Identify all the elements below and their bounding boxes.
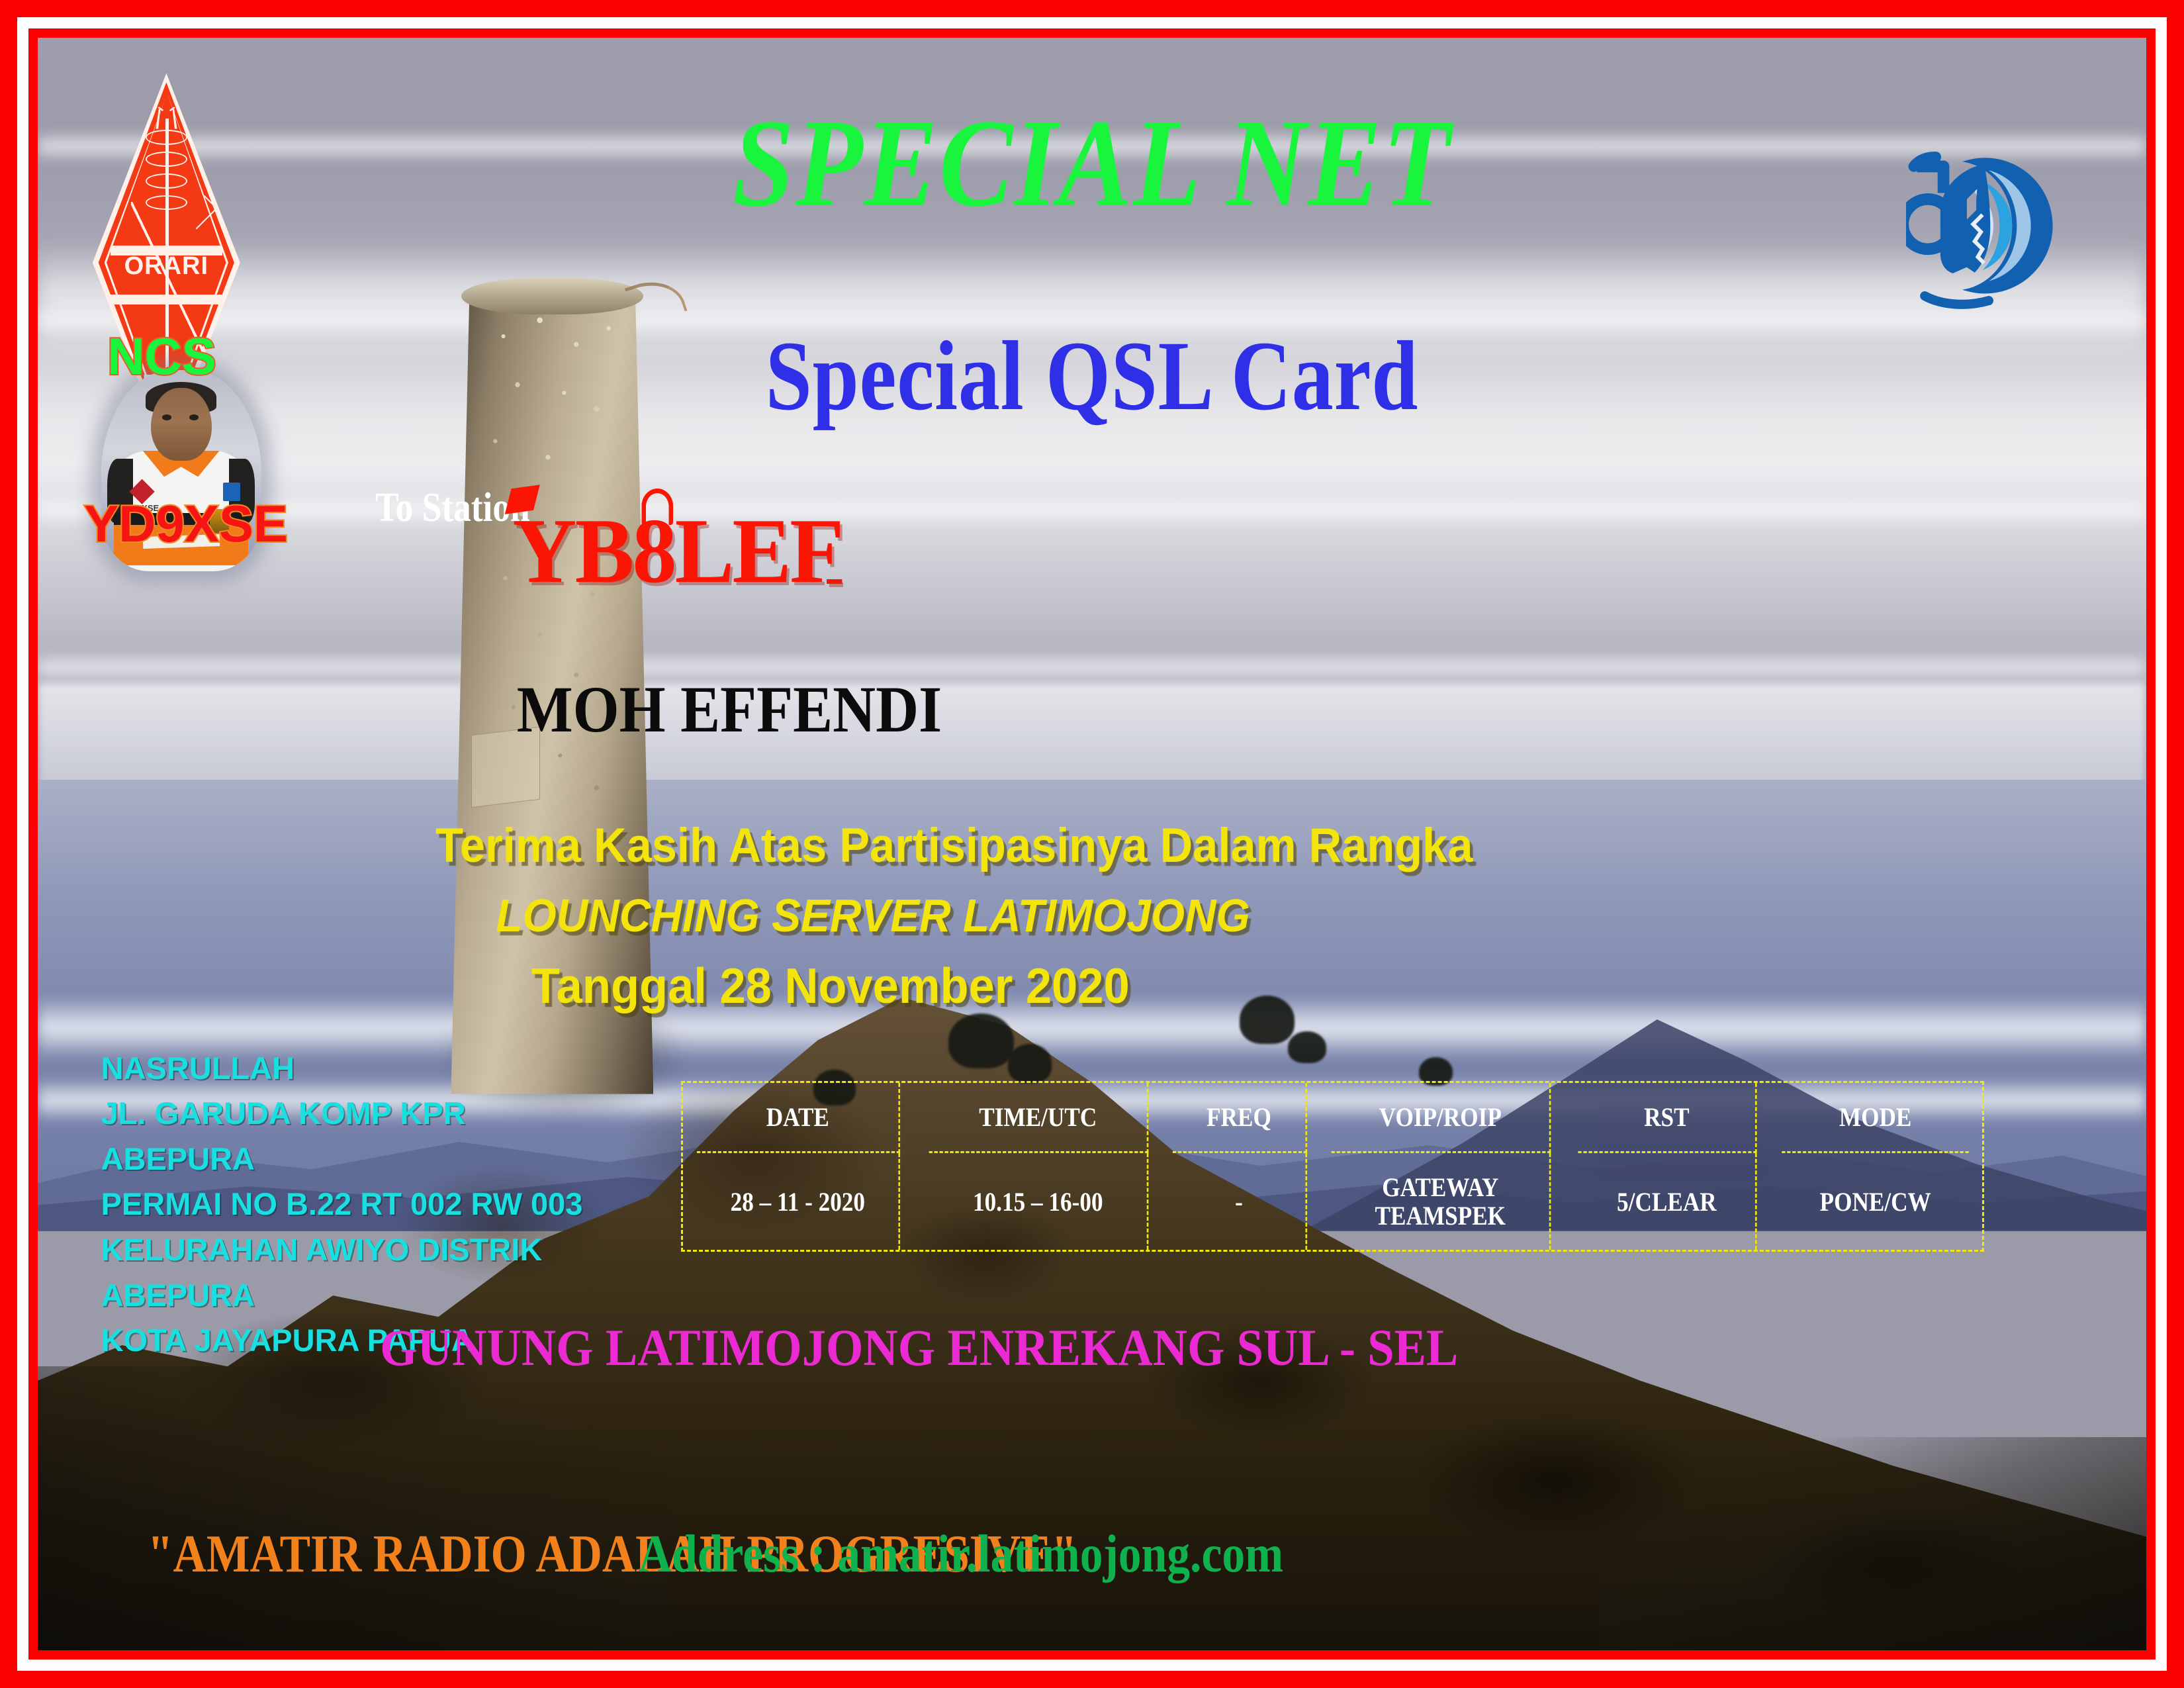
tree-silhouette [1240,996,1295,1044]
address-line: ABEPURA [101,1273,583,1319]
ncs-callsign-label: YD9XSE [84,494,288,554]
table-cell-mode: PONE/CW [1782,1153,1970,1250]
table-header-mode: MODE [1782,1083,1970,1153]
tree-silhouette [948,1013,1014,1068]
orari-logo-wordmark: ORARI [93,254,240,279]
address-line: ABEPURA [101,1137,583,1182]
sender-address-block: NASRULLAH JL. GARUDA KOMP KPR ABEPURA PE… [101,1046,583,1364]
qsl-card-white-frame: ORARI [17,17,2167,1671]
table-cell-time-utc: 10.15 – 16-00 [929,1153,1149,1250]
card-main-title: SPECIAL NET [733,101,1451,226]
destination-callsign: YB8LEF [513,505,842,598]
table-header-date: DATE [697,1083,900,1153]
table-header-rst: RST [1578,1083,1756,1153]
voip-roip-line-1: GATEWAY [1375,1173,1506,1201]
foreground-shadow-left [38,1366,670,1650]
card-subtitle: Special QSL Card [766,326,1419,426]
tree-silhouette [1288,1031,1326,1064]
table-cell-voip-roip: GATEWAY TEAMSPEK [1331,1153,1551,1250]
address-line: JL. GARUDA KOMP KPR [101,1091,583,1137]
website-address-text: Address : amatir.latimojong.com [639,1524,1283,1585]
qsl-card-photo-area: ORARI [38,38,2146,1650]
tree-silhouette [1008,1044,1052,1082]
foreground-shadow-right [1598,1437,2146,1650]
table-cell-freq: - [1173,1153,1307,1250]
table-header-voip-roip: VOIP/ROIP [1331,1083,1551,1153]
qso-log-table: DATE TIME/UTC FREQ VOIP/ROIP RST MODE 28… [681,1081,1984,1252]
event-line: LOUNCHING SERVER LATIMOJONG [496,889,1250,942]
ncs-role-label: NCS [107,326,216,387]
table-header-freq: FREQ [1173,1083,1307,1153]
voip-roip-line-2: TEAMSPEK [1375,1201,1506,1230]
operator-name: MOH EFFENDI [517,671,942,747]
qsl-card-outer-red-frame: ORARI [0,0,2184,1688]
headset-soundwave-logo-icon [1906,93,2062,359]
address-line: PERMAI NO B.22 RT 002 RW 003 [101,1182,583,1227]
qsl-card-inner-red-frame: ORARI [28,28,2156,1660]
address-line: NASRULLAH [101,1046,583,1092]
table-header-time-utc: TIME/UTC [929,1083,1149,1153]
thanks-line: Terima Kasih Atas Partisipasinya Dalam R… [435,818,1473,873]
table-cell-rst: 5/CLEAR [1578,1153,1756,1250]
location-line: GUNUNG LATIMOJONG ENREKANG SUL - SEL [380,1318,1458,1378]
event-date-line: Tanggal 28 November 2020 [531,957,1130,1014]
table-cell-date: 28 – 11 - 2020 [697,1153,900,1250]
address-line: KELURAHAN AWIYO DISTRIK [101,1227,583,1273]
